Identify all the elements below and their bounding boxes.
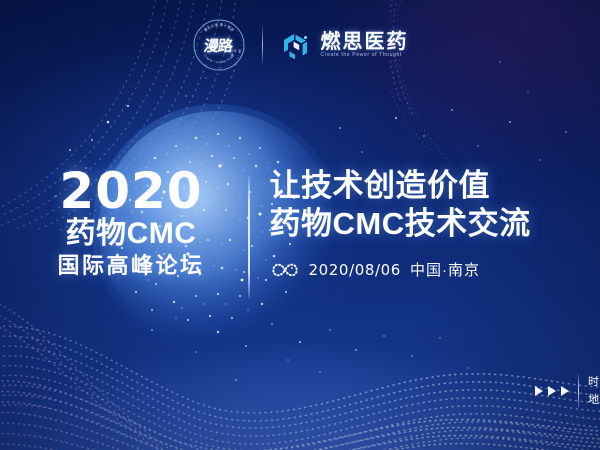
infinity-icon (270, 262, 300, 278)
main-title-area: 2020 药物CMC 国际高峰论坛 让技术创造价值 药物CMC技术交流 2020… (0, 168, 600, 318)
ransi-pharma-logo[interactable]: 燃思医药 Create the Power of Thought (279, 28, 409, 62)
logo-ring-top-text: 漫无止境 第十周年 (202, 22, 235, 33)
event-meta-row: 2020/08/06 中国·南京 (270, 259, 600, 280)
slogan-block: 让技术创造价值 药物CMC技术交流 2020/08/06 中国·南京 (250, 168, 600, 280)
arrow-group (535, 386, 569, 396)
header-divider (262, 24, 263, 66)
event-subtitle: 国际高峰论坛 (57, 253, 204, 278)
event-date: 2020/08/06 (309, 261, 401, 279)
header-logo-bar: 漫无止境 第十周年 Create • Infinite Road 漫路 十年 漫… (0, 18, 600, 72)
brand-tagline-en: Create the Power of Thought (321, 53, 409, 59)
logo-side-text: 十年 漫路 (231, 50, 242, 57)
play-triangle-icon (548, 386, 556, 396)
event-topic: 药物CMC (66, 217, 197, 250)
thought-cube-mark-icon (279, 28, 313, 62)
footer-detail-lines: 时间 地点 (588, 376, 600, 405)
logo-wordmark: 漫路 (203, 35, 234, 56)
manlu-circular-logo[interactable]: 漫无止境 第十周年 Create • Infinite Road 漫路 十年 漫… (192, 18, 246, 72)
footer-divider (578, 374, 580, 408)
event-title-block: 2020 药物CMC 国际高峰论坛 (0, 168, 248, 278)
footer-line-place: 地点 (588, 394, 600, 406)
slogan-line-2: 药物CMC技术交流 (270, 206, 600, 243)
poster-canvas: 漫无止境 第十周年 Create • Infinite Road 漫路 十年 漫… (0, 0, 600, 450)
play-triangle-icon (535, 386, 543, 396)
footer-line-time: 时间 (588, 376, 600, 388)
footer-info-row: 时间 地点 (535, 374, 600, 408)
event-location: 中国·南京 (410, 259, 480, 280)
slogan-line-1: 让技术创造价值 (270, 168, 600, 205)
brand-name-cn: 燃思医药 (321, 32, 409, 52)
svg-text:漫无止境 第十周年: 漫无止境 第十周年 (202, 22, 235, 33)
event-year: 2020 (59, 168, 202, 215)
play-triangle-icon (561, 386, 569, 396)
